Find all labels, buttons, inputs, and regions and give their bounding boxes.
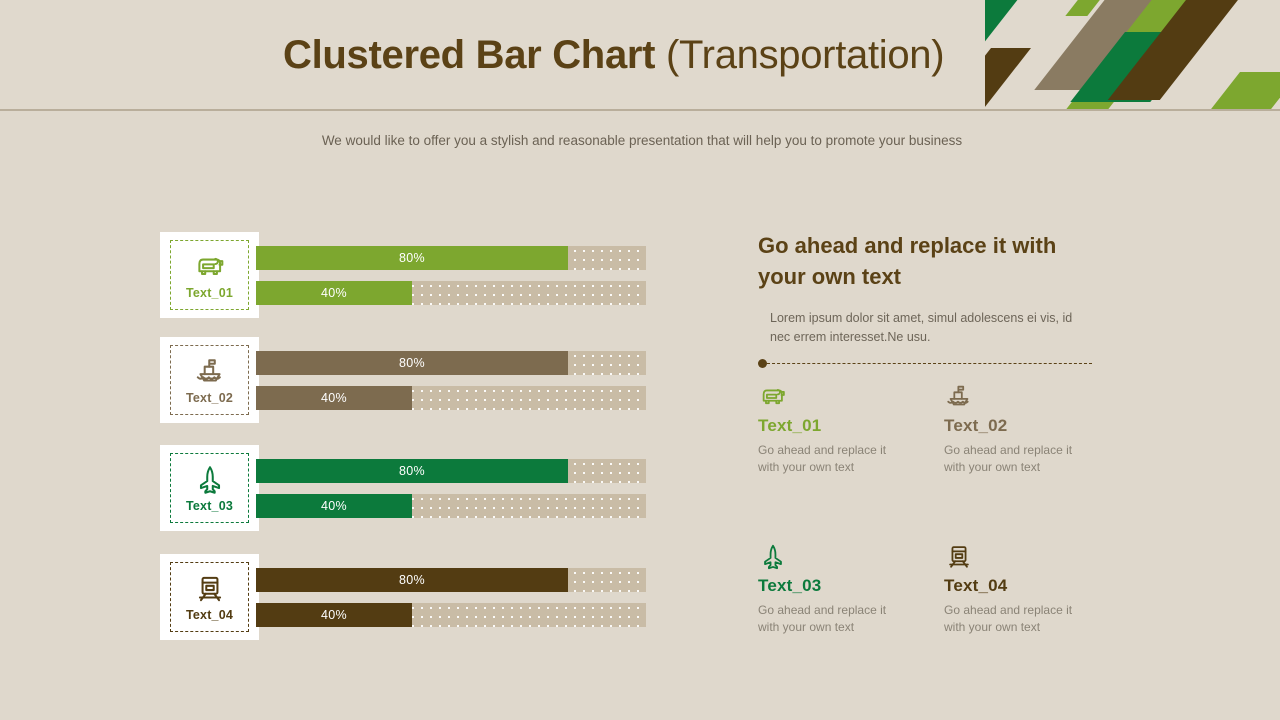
car-icon (758, 382, 788, 412)
category-card-label: Text_02 (186, 391, 233, 405)
train-icon (193, 572, 227, 606)
panel-body-text: Lorem ipsum dolor sit amet, simul adoles… (770, 309, 1088, 347)
category-card-text_01[interactable]: Text_01 (160, 232, 259, 318)
legend-item-description: Go ahead and replace it with your own te… (944, 442, 1084, 476)
airplane-icon (758, 542, 788, 572)
bar-track-1-1: 80% (256, 246, 646, 270)
divider-dashed-line (767, 363, 1092, 364)
legend-item-description: Go ahead and replace it with your own te… (758, 442, 898, 476)
category-card-inner: Text_04 (170, 562, 249, 632)
bar-fill-3-1[interactable]: 80% (256, 459, 568, 483)
category-card-text_03[interactable]: Text_03 (160, 445, 259, 531)
deco-stripe-1 (985, 0, 1033, 55)
bar-track-1-2: 40% (256, 281, 646, 305)
category-card-inner: Text_01 (170, 240, 249, 310)
legend-item-description: Go ahead and replace it with your own te… (758, 602, 898, 636)
bar-value-label: 40% (321, 286, 347, 300)
ship-icon (944, 382, 974, 412)
bar-value-label: 40% (321, 499, 347, 513)
legend-item-text_01[interactable]: Text_01Go ahead and replace it with your… (758, 382, 928, 476)
airplane-icon (193, 463, 227, 497)
bar-fill-4-1[interactable]: 80% (256, 568, 568, 592)
category-card-label: Text_04 (186, 608, 233, 622)
category-card-inner: Text_03 (170, 453, 249, 523)
bar-track-2-1: 80% (256, 351, 646, 375)
panel-divider (758, 358, 1092, 368)
decorative-diagonal-stripes (985, 0, 1280, 110)
bar-value-label: 80% (399, 356, 425, 370)
page-title-light: (Transportation) (666, 33, 944, 77)
divider-dot-icon (758, 359, 767, 368)
category-card-label: Text_01 (186, 286, 233, 300)
bar-fill-3-2[interactable]: 40% (256, 494, 412, 518)
legend-item-description: Go ahead and replace it with your own te… (944, 602, 1084, 636)
bar-fill-2-1[interactable]: 80% (256, 351, 568, 375)
bar-track-2-2: 40% (256, 386, 646, 410)
train-icon (944, 542, 974, 572)
deco-stripe-8 (1193, 72, 1280, 110)
category-card-text_02[interactable]: Text_02 (160, 337, 259, 423)
legend-item-label: Text_03 (758, 576, 928, 596)
bar-fill-1-1[interactable]: 80% (256, 246, 568, 270)
deco-stripe-7 (985, 48, 1031, 110)
bar-value-label: 80% (399, 464, 425, 478)
right-content-panel: Go ahead and replace it with your own te… (758, 230, 1098, 347)
page-title: Clustered Bar Chart (Transportation) (283, 30, 944, 80)
legend-item-label: Text_04 (944, 576, 1114, 596)
clustered-bar-chart: Text_0180%40%Text_0280%40%Text_0380%40%T… (0, 0, 700, 720)
bar-value-label: 80% (399, 573, 425, 587)
bar-fill-4-2[interactable]: 40% (256, 603, 412, 627)
legend-item-text_02[interactable]: Text_02Go ahead and replace it with your… (944, 382, 1114, 476)
category-card-label: Text_03 (186, 499, 233, 513)
legend-grid: Text_01Go ahead and replace it with your… (758, 382, 1098, 636)
bar-fill-2-2[interactable]: 40% (256, 386, 412, 410)
bar-fill-1-2[interactable]: 40% (256, 281, 412, 305)
bar-value-label: 40% (321, 391, 347, 405)
bar-track-3-1: 80% (256, 459, 646, 483)
bar-track-3-2: 40% (256, 494, 646, 518)
category-card-text_04[interactable]: Text_04 (160, 554, 259, 640)
panel-heading: Go ahead and replace it with your own te… (758, 230, 1088, 292)
category-card-inner: Text_02 (170, 345, 249, 415)
bar-value-label: 80% (399, 251, 425, 265)
ship-icon (193, 355, 227, 389)
bar-track-4-1: 80% (256, 568, 646, 592)
legend-item-label: Text_02 (944, 416, 1114, 436)
legend-item-text_03[interactable]: Text_03Go ahead and replace it with your… (758, 542, 928, 636)
legend-item-label: Text_01 (758, 416, 928, 436)
car-icon (193, 250, 227, 284)
bar-value-label: 40% (321, 608, 347, 622)
legend-item-text_04[interactable]: Text_04Go ahead and replace it with your… (944, 542, 1114, 636)
page-title-bold: Clustered Bar Chart (283, 33, 666, 77)
bar-track-4-2: 40% (256, 603, 646, 627)
